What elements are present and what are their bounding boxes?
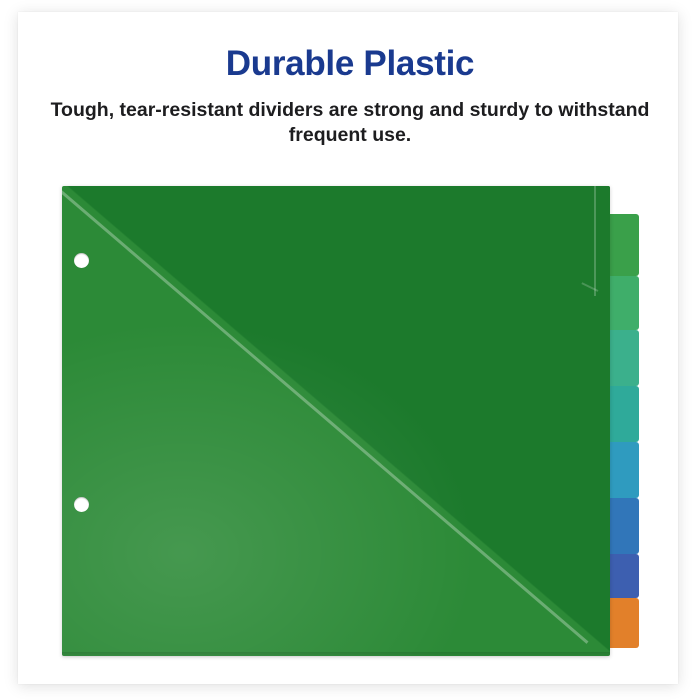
binder-hole-bottom <box>74 497 89 512</box>
pocket-seam-vertical <box>594 186 596 296</box>
product-image: Durable Plastic Tough, tear-resistant di… <box>0 0 700 700</box>
page-subtitle: Tough, tear-resistant dividers are stron… <box>50 98 650 148</box>
binder-hole-top <box>74 253 89 268</box>
sheet-drop-shadow <box>62 652 610 658</box>
sheet-sheen <box>62 186 610 656</box>
green-divider-sheet <box>62 186 610 656</box>
page-title: Durable Plastic <box>0 44 700 84</box>
